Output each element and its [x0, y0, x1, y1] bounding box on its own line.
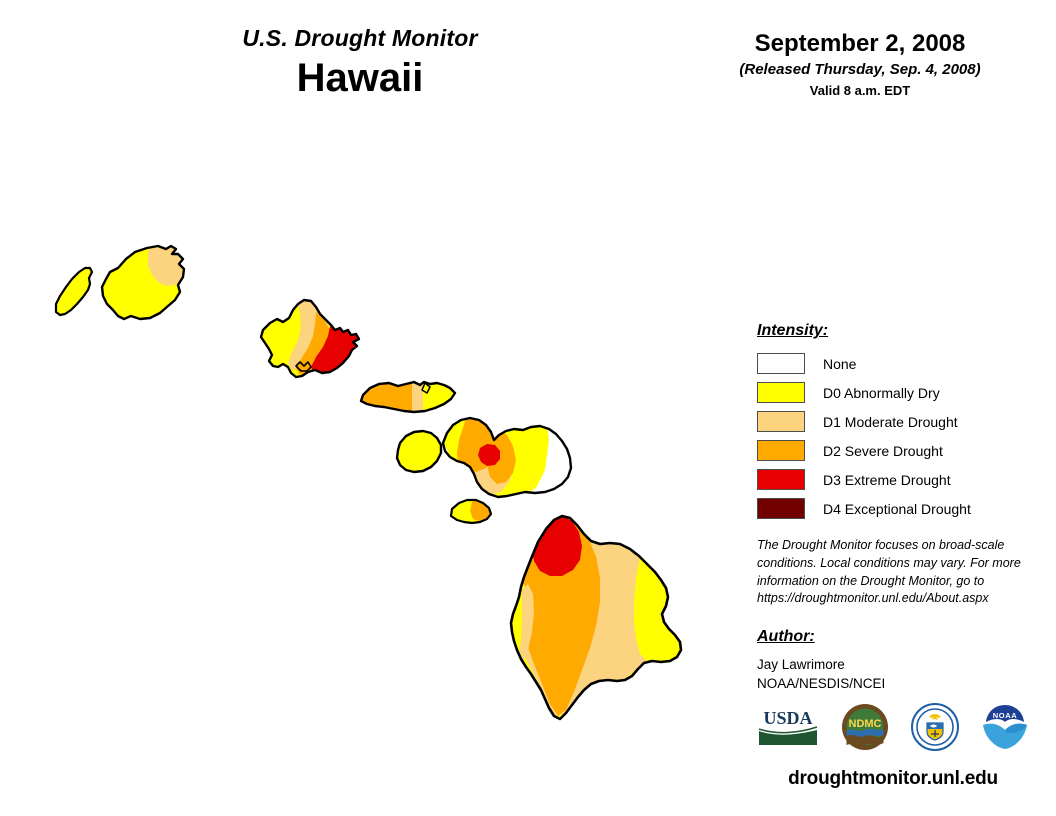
legend: Intensity: None D0 Abnormally Dry D1 Mod… [757, 322, 1027, 523]
author-heading: Author: [757, 628, 1027, 646]
island-hawaii [500, 505, 700, 730]
noaa-seal-logo [911, 703, 959, 756]
noaa-logo: NOAA [981, 703, 1029, 756]
island-oahu [250, 290, 375, 390]
svg-text:USDA: USDA [763, 708, 812, 728]
logo-strip: USDA NDMC [757, 703, 1029, 755]
island-lanai [392, 425, 452, 480]
map-date: September 2, 2008 [700, 30, 1020, 58]
legend-label-d2: D2 Severe Drought [823, 443, 943, 459]
island-kauai [95, 238, 195, 328]
legend-swatch-d0 [757, 382, 805, 403]
legend-swatch-d2 [757, 440, 805, 461]
legend-label-d1: D1 Moderate Drought [823, 414, 958, 430]
legend-swatch-d4 [757, 498, 805, 519]
legend-item-none: None [757, 349, 1027, 378]
svg-text:NDMC: NDMC [849, 718, 882, 730]
legend-swatch-none [757, 353, 805, 374]
legend-label-d3: D3 Extreme Drought [823, 472, 951, 488]
program-title: U.S. Drought Monitor [140, 26, 580, 51]
legend-item-d0: D0 Abnormally Dry [757, 378, 1027, 407]
legend-title: Intensity: [757, 322, 1027, 340]
author-name: Jay Lawrimore [757, 655, 1027, 674]
legend-swatch-d1 [757, 411, 805, 432]
site-url: droughtmonitor.unl.edu [757, 768, 1029, 790]
region-title: Hawaii [140, 55, 580, 101]
author-block: Author: Jay Lawrimore NOAA/NESDIS/NCEI [757, 628, 1027, 693]
legend-label-d0: D0 Abnormally Dry [823, 385, 940, 401]
island-kahoolawe [445, 495, 500, 530]
legend-swatch-d3 [757, 469, 805, 490]
legend-label-none: None [823, 356, 856, 372]
svg-text:NOAA: NOAA [993, 711, 1017, 720]
title-block: U.S. Drought Monitor Hawaii [140, 26, 580, 101]
valid-time: Valid 8 a.m. EDT [700, 83, 1020, 99]
usda-logo: USDA [757, 705, 819, 754]
legend-item-d1: D1 Moderate Drought [757, 407, 1027, 436]
legend-label-d4: D4 Exceptional Drought [823, 501, 971, 517]
date-block: September 2, 2008 (Released Thursday, Se… [700, 30, 1020, 98]
disclaimer-text: The Drought Monitor focuses on broad-sca… [757, 537, 1025, 608]
island-maui [440, 410, 580, 505]
ndmc-logo: NDMC [841, 703, 889, 756]
island-molokai [355, 375, 465, 420]
hawaii-drought-map [0, 180, 740, 740]
release-date: (Released Thursday, Sep. 4, 2008) [700, 61, 1020, 79]
legend-item-d4: D4 Exceptional Drought [757, 494, 1027, 523]
legend-item-d3: D3 Extreme Drought [757, 465, 1027, 494]
author-affiliation: NOAA/NESDIS/NCEI [757, 674, 1027, 693]
legend-item-d2: D2 Severe Drought [757, 436, 1027, 465]
